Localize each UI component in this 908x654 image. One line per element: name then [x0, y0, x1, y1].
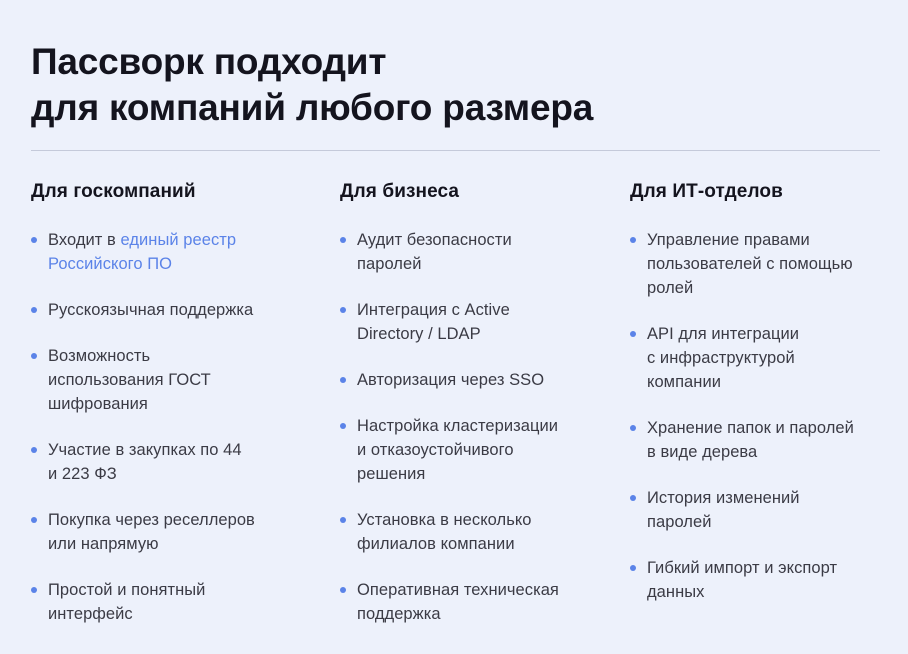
list-item: Простой и понятный интерфейс	[31, 578, 304, 626]
list-item: Участие в закупках по 44 и 223 ФЗ	[31, 438, 304, 486]
bullet-dot-icon	[340, 307, 346, 313]
list-item: Установка в несколько филиалов компании	[340, 508, 591, 556]
bullet-dot-icon	[340, 517, 346, 523]
column-title-gov: Для госкомпаний	[31, 180, 304, 204]
list-item: Авторизация через SSO	[340, 368, 591, 392]
bullet-dot-icon	[31, 353, 37, 359]
bullet-dot-icon	[340, 423, 346, 429]
list-item: Возможность использования ГОСТ шифровани…	[31, 344, 304, 416]
list-item-text: Покупка через реселлеров или напрямую	[48, 511, 255, 553]
bullet-dot-icon	[31, 517, 37, 523]
list-item-text: Установка в несколько филиалов компании	[357, 511, 532, 553]
bullet-dot-icon	[31, 447, 37, 453]
list-item-text: Участие в закупках по 44 и 223 ФЗ	[48, 441, 242, 483]
list-item-text: Гибкий импорт и экспорт данных	[647, 559, 837, 601]
column-it: Для ИТ-отделов Управление правами пользо…	[605, 180, 908, 604]
list-item-prefix: Входит в	[48, 231, 120, 249]
bullet-dot-icon	[340, 237, 346, 243]
bullet-dot-icon	[630, 565, 636, 571]
column-title-business: Для бизнеса	[340, 180, 591, 204]
bullet-dot-icon	[31, 307, 37, 313]
column-gov: Для госкомпаний Входит в единый реестр Р…	[0, 180, 320, 626]
list-item-text: Интеграция с Active Directory / LDAP	[357, 301, 510, 343]
list-item: Покупка через реселлеров или напрямую	[31, 508, 304, 556]
list-item-text: Хранение папок и паролей в виде дерева	[647, 419, 854, 461]
feature-list-business: Аудит безопасности паролей Интеграция с …	[340, 228, 591, 626]
section-divider	[31, 150, 880, 151]
bullet-dot-icon	[630, 425, 636, 431]
list-item: Оперативная техническая поддержка	[340, 578, 591, 626]
bullet-dot-icon	[340, 587, 346, 593]
list-item: Русскоязычная поддержка	[31, 298, 304, 322]
list-item-text: Простой и понятный интерфейс	[48, 581, 205, 623]
list-item-text: Авторизация через SSO	[357, 371, 544, 389]
list-item-text: Входит в единый реестр Российского ПО	[48, 231, 236, 273]
feature-list-it: Управление правами пользователей с помощ…	[630, 228, 896, 604]
list-item: История изменений паролей	[630, 486, 896, 534]
list-item: Интеграция с Active Directory / LDAP	[340, 298, 591, 346]
list-item-text: API для интеграции с инфраструктурой ком…	[647, 325, 799, 391]
list-item-text: Настройка кластеризации и отказоустойчив…	[357, 417, 558, 483]
feature-columns: Для госкомпаний Входит в единый реестр Р…	[0, 180, 908, 626]
bullet-dot-icon	[630, 495, 636, 501]
bullet-dot-icon	[31, 587, 37, 593]
page-title: Пассворк подходит для компаний любого ра…	[31, 39, 831, 131]
feature-list-gov: Входит в единый реестр Российского ПО Ру…	[31, 228, 304, 626]
list-item-text: История изменений паролей	[647, 489, 800, 531]
page-root: Пассворк подходит для компаний любого ра…	[0, 0, 908, 654]
list-item: Управление правами пользователей с помощ…	[630, 228, 896, 300]
bullet-dot-icon	[340, 377, 346, 383]
column-title-it: Для ИТ-отделов	[630, 180, 896, 204]
list-item: Настройка кластеризации и отказоустойчив…	[340, 414, 591, 486]
list-item: Гибкий импорт и экспорт данных	[630, 556, 896, 604]
bullet-dot-icon	[31, 237, 37, 243]
list-item-text: Возможность использования ГОСТ шифровани…	[48, 347, 211, 413]
list-item-text: Аудит безопасности паролей	[357, 231, 512, 273]
list-item-text: Управление правами пользователей с помощ…	[647, 231, 853, 297]
list-item-text: Оперативная техническая поддержка	[357, 581, 559, 623]
list-item: Хранение папок и паролей в виде дерева	[630, 416, 896, 464]
list-item: Аудит безопасности паролей	[340, 228, 591, 276]
bullet-dot-icon	[630, 237, 636, 243]
list-item-text: Русскоязычная поддержка	[48, 301, 253, 319]
column-business: Для бизнеса Аудит безопасности паролей И…	[320, 180, 605, 626]
list-item: API для интеграции с инфраструктурой ком…	[630, 322, 896, 394]
bullet-dot-icon	[630, 331, 636, 337]
list-item: Входит в единый реестр Российского ПО	[31, 228, 304, 276]
